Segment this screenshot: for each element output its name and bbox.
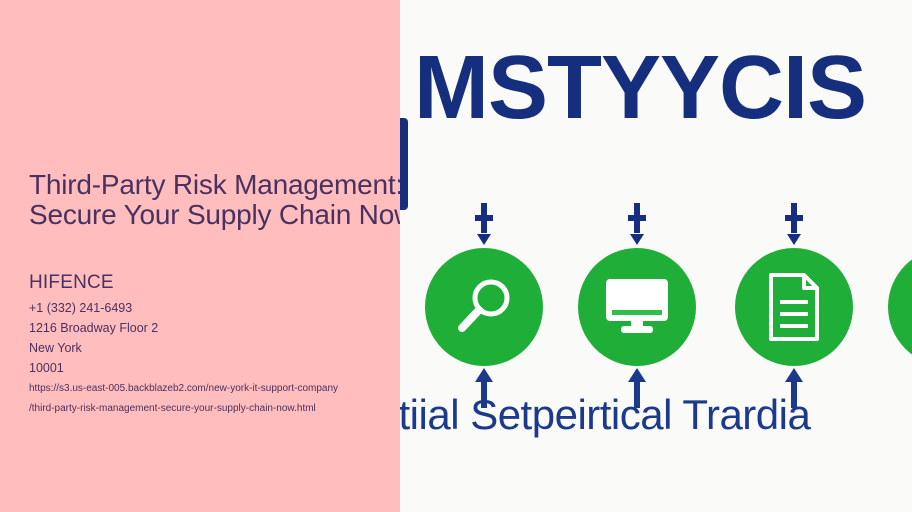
right-graphic-panel: MSTYYCIS [400, 0, 912, 512]
arrow-down-icon [626, 203, 648, 245]
contact-street: 1216 Broadway Floor 2 [29, 318, 389, 338]
left-info-panel: Third-Party Risk Management: Secure Your… [0, 0, 400, 512]
monitor-icon [578, 248, 696, 366]
arrow-down-icon [783, 203, 805, 245]
magnifier-icon [425, 248, 543, 366]
arrow-down-icon [473, 203, 495, 245]
contact-phone: +1 (332) 241-6493 [29, 298, 389, 318]
document-icon [735, 248, 853, 366]
icon-node-monitor[interactable] [578, 248, 696, 366]
contact-city: New York [29, 338, 389, 358]
brand-name: HIFENCE [29, 272, 114, 294]
graphic-caption: ctiial Setpeirtical Trardia [400, 386, 810, 444]
page-title: Third-Party Risk Management: Secure Your… [29, 170, 400, 230]
source-url-line-1: https://s3.us-east-005.backblazeb2.com/n… [29, 379, 389, 399]
partial-icon [888, 248, 912, 366]
source-url[interactable]: https://s3.us-east-005.backblazeb2.com/n… [29, 379, 389, 419]
contact-zip: 10001 [29, 358, 389, 378]
screenshot-root: Third-Party Risk Management: Secure Your… [0, 0, 912, 512]
icon-node-search[interactable] [425, 248, 543, 366]
source-url-line-2: /third-party-risk-management-secure-your… [29, 399, 389, 419]
icon-node-document[interactable] [735, 248, 853, 366]
contact-block: +1 (332) 241-6493 1216 Broadway Floor 2 … [29, 298, 389, 378]
icon-node-cropped[interactable] [888, 248, 912, 366]
